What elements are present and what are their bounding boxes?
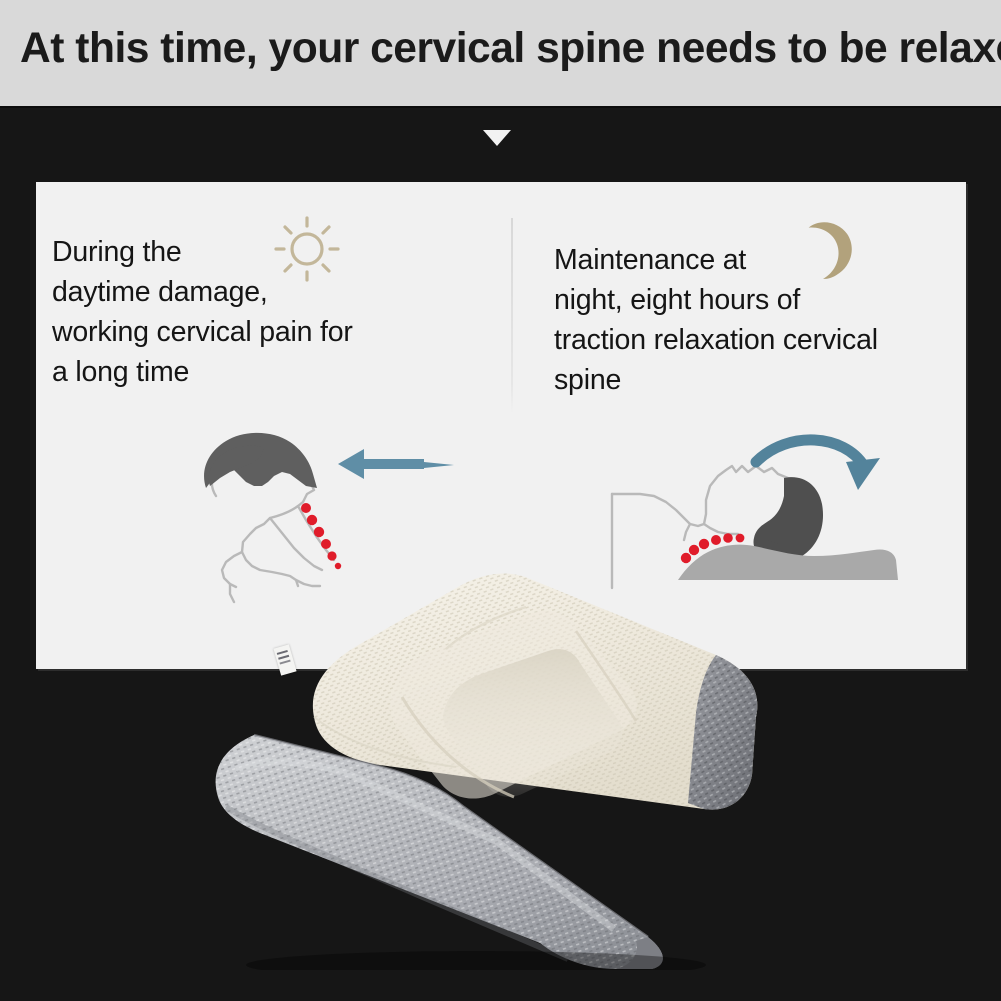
page-title: At this time, your cervical spine needs … — [20, 24, 975, 73]
column-divider — [511, 218, 513, 413]
night-maintenance-text: Maintenance at night, eight hours of tra… — [554, 240, 954, 400]
product-infographic-page: At this time, your cervical spine needs … — [0, 0, 1001, 1001]
force-arrow-left-icon — [338, 449, 454, 479]
triangle-down-icon — [483, 130, 511, 146]
cervical-contour-pillow — [196, 545, 836, 970]
daytime-damage-text: During the daytime damage, working cervi… — [52, 232, 452, 392]
traction-arrow-icon — [756, 440, 880, 490]
header-banner: At this time, your cervical spine needs … — [0, 0, 1001, 108]
